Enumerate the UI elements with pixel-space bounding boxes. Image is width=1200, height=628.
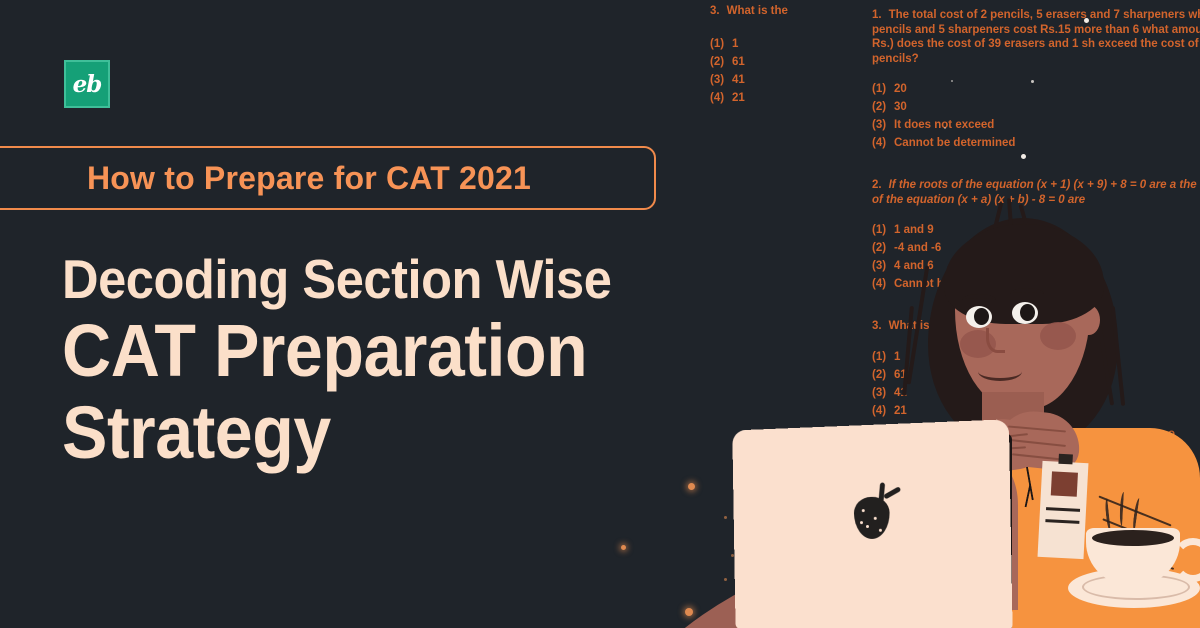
badge-photo bbox=[1051, 471, 1078, 496]
option-label: (4) bbox=[710, 89, 732, 107]
question-stem: The total cost of 2 pencils, 5 erasers a… bbox=[872, 9, 1200, 65]
strawberry-seed bbox=[862, 509, 865, 512]
option-label: (1) bbox=[872, 80, 894, 98]
eyebrow bbox=[962, 294, 996, 306]
option-label: (3) bbox=[872, 384, 894, 402]
option-label: (3) bbox=[710, 71, 732, 89]
option-label: (2) bbox=[872, 98, 894, 116]
option-label: (4) bbox=[872, 275, 894, 293]
question-stem: If the roots of the equation (x + 1) (x … bbox=[872, 179, 1200, 206]
question-options: (1)20 (2)30 (3)It does not exceed (4)Can… bbox=[872, 80, 1200, 152]
mouth bbox=[978, 362, 1022, 381]
option-text: 21 bbox=[732, 92, 745, 104]
option-text: Cannot be determined bbox=[894, 137, 1015, 149]
question-column-left: 3.What is the (1)1 (2)61 (3)41 (4)21 bbox=[710, 2, 788, 133]
option-row: (2)30 bbox=[872, 98, 1200, 116]
option-text: 30 bbox=[894, 101, 907, 113]
option-row: (3)41 bbox=[710, 71, 788, 89]
strawberry-seed bbox=[866, 525, 869, 528]
question-number: 3. bbox=[710, 5, 720, 17]
option-label: (4) bbox=[872, 402, 894, 420]
glow-dot bbox=[876, 62, 878, 64]
brand-logo-mark: eb bbox=[73, 73, 102, 96]
option-label: (1) bbox=[710, 35, 732, 53]
eyebrow bbox=[1010, 288, 1044, 300]
kicker-label: How to Prepare for CAT 2021 bbox=[87, 160, 531, 197]
badge-line bbox=[1045, 519, 1079, 524]
option-label: (1) bbox=[872, 221, 894, 239]
question-block: 3.What is the bbox=[710, 2, 788, 21]
option-label: (1) bbox=[872, 348, 894, 366]
glow-dot bbox=[688, 483, 695, 490]
kicker-box: How to Prepare for CAT 2021 bbox=[0, 146, 656, 210]
question-stem: What is the bbox=[727, 5, 788, 17]
strawberry-icon bbox=[854, 496, 890, 539]
question-block: 1.The total cost of 2 pencils, 5 erasers… bbox=[872, 8, 1200, 66]
glow-dot bbox=[685, 608, 693, 616]
badge-line bbox=[1046, 507, 1080, 512]
glow-dot bbox=[1021, 154, 1026, 159]
option-row: (1)20 bbox=[872, 80, 1200, 98]
option-row: (3)It does not exceed bbox=[872, 116, 1200, 134]
option-label: (2) bbox=[710, 53, 732, 71]
pupil bbox=[1020, 304, 1035, 321]
pupil bbox=[974, 308, 989, 325]
glow-dot bbox=[724, 516, 727, 519]
headline-line-1: Decoding Section Wise bbox=[62, 248, 651, 310]
strawberry-icon-leaf bbox=[883, 486, 901, 499]
notepad-badge bbox=[1038, 461, 1089, 559]
glow-dot bbox=[621, 545, 626, 550]
coffee-liquid bbox=[1092, 530, 1174, 546]
strawberry-seed bbox=[879, 529, 882, 532]
option-label: (3) bbox=[872, 257, 894, 275]
option-text: 41 bbox=[732, 74, 745, 86]
cheek-blush bbox=[1040, 322, 1076, 350]
page-title: Decoding Section Wise CAT Preparation St… bbox=[62, 248, 702, 474]
glow-dot bbox=[1031, 80, 1034, 83]
headline-line-3: Strategy bbox=[62, 392, 651, 474]
question-options: (1)1 (2)61 (3)41 (4)21 bbox=[710, 35, 788, 107]
option-row: (2)61 bbox=[710, 53, 788, 71]
option-text: It does not exceed bbox=[894, 119, 994, 131]
question-number: 1. bbox=[872, 9, 882, 21]
question-block: 2.If the roots of the equation (x + 1) (… bbox=[872, 178, 1200, 207]
strawberry-icon-stem bbox=[878, 482, 885, 502]
option-label: (3) bbox=[872, 116, 894, 134]
glow-dot bbox=[724, 578, 727, 581]
brand-logo[interactable]: eb bbox=[64, 60, 110, 108]
option-label: (2) bbox=[872, 366, 894, 384]
laptop-lid bbox=[732, 419, 1012, 628]
option-label: (2) bbox=[872, 239, 894, 257]
option-row: (4)21 bbox=[710, 89, 788, 107]
question-number: 3. bbox=[872, 320, 882, 332]
strawberry-seed bbox=[874, 517, 877, 520]
option-text: 61 bbox=[732, 56, 745, 68]
option-text: 20 bbox=[894, 83, 907, 95]
question-number: 2. bbox=[872, 179, 882, 191]
hero-banner: 3.What is the (1)1 (2)61 (3)41 (4)21 1.T… bbox=[0, 0, 1200, 628]
strawberry-seed bbox=[860, 521, 863, 524]
glow-dot bbox=[944, 127, 946, 129]
glow-dot bbox=[951, 80, 953, 82]
option-text: 1 bbox=[732, 38, 738, 50]
option-row: (1)1 bbox=[710, 35, 788, 53]
option-row: (4)Cannot be determined bbox=[872, 134, 1200, 152]
glow-dot bbox=[1084, 18, 1089, 23]
badge-clip bbox=[1058, 454, 1073, 465]
option-label: (4) bbox=[872, 134, 894, 152]
headline-line-2: CAT Preparation bbox=[62, 310, 651, 392]
